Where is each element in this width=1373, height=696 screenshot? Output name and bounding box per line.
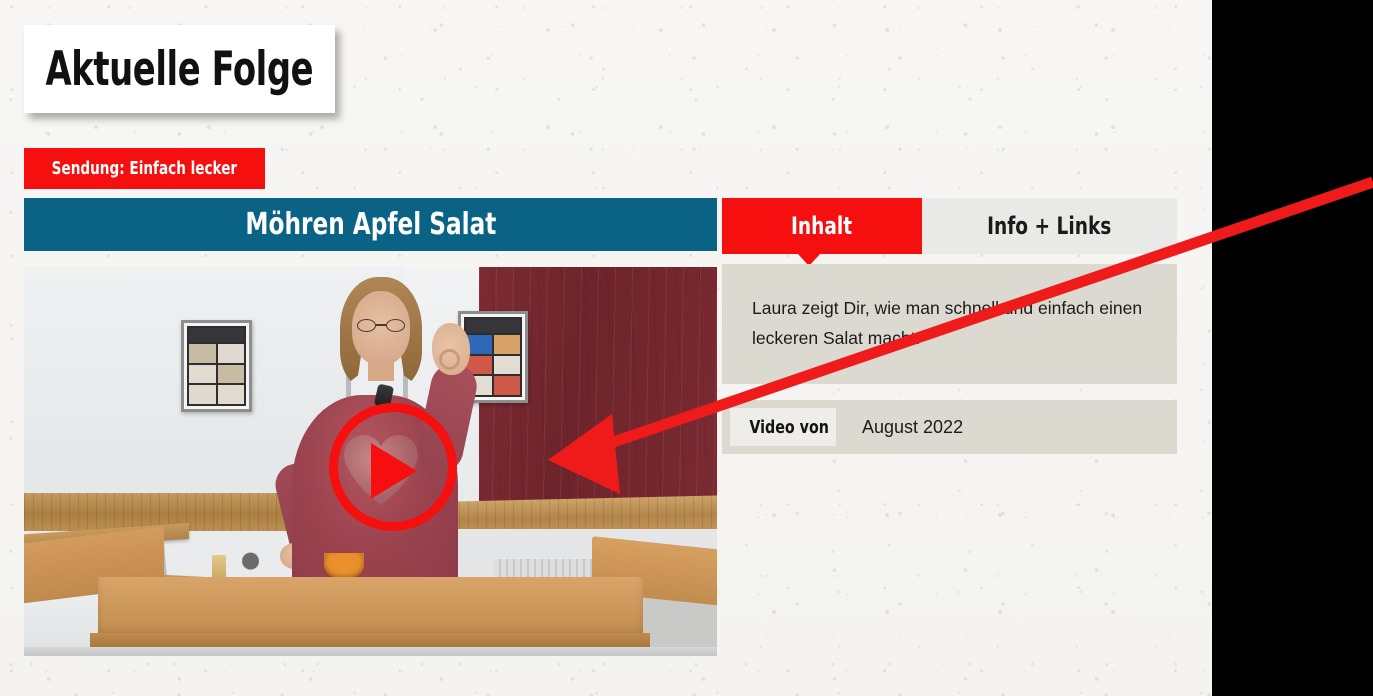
tab-info-links-label: Info + Links xyxy=(987,212,1111,240)
tab-content-panel: Laura zeigt Dir, wie man schnell und ein… xyxy=(722,264,1177,384)
scene-counter-surface xyxy=(98,577,643,639)
scene-person-neck xyxy=(368,359,394,381)
scene-poster-left-grid xyxy=(187,326,246,406)
poster-cell xyxy=(189,365,216,384)
show-badge-label: Sendung: Einfach lecker xyxy=(52,158,237,179)
scene-plant xyxy=(242,552,259,578)
poster-cell xyxy=(218,344,245,363)
glasses-icon xyxy=(357,319,405,332)
tab-info-links[interactable]: Info + Links xyxy=(922,198,1177,254)
video-date-label: Video von xyxy=(730,408,836,446)
episode-title-bar: Möhren Apfel Salat xyxy=(24,198,717,251)
poster-cell xyxy=(494,356,520,375)
page-title-card: Aktuelle Folge xyxy=(24,25,335,113)
show-badge: Sendung: Einfach lecker xyxy=(24,148,265,189)
poster-head xyxy=(466,319,520,333)
scene-person-hand-right xyxy=(432,323,470,375)
episode-title: Möhren Apfel Salat xyxy=(245,207,496,242)
poster-cell xyxy=(189,344,216,363)
screenshot-root: Aktuelle Folge Sendung: Einfach lecker M… xyxy=(0,0,1373,696)
scene-cabinets xyxy=(24,647,717,656)
poster-cell xyxy=(218,385,245,404)
tab-inhalt[interactable]: Inhalt xyxy=(722,198,922,254)
episode-description: Laura zeigt Dir, wie man schnell und ein… xyxy=(752,294,1147,354)
poster-cell xyxy=(494,335,520,354)
video-date-label-text: Video von xyxy=(749,417,828,438)
scene-jar xyxy=(212,555,226,579)
glasses-lens xyxy=(357,319,376,332)
scene-salad-bowl xyxy=(324,553,364,579)
video-date-value: August 2022 xyxy=(862,417,963,438)
poster-cell xyxy=(218,365,245,384)
glasses-bridge xyxy=(376,324,386,326)
poster-cell xyxy=(189,385,216,404)
video-player[interactable] xyxy=(24,267,717,656)
page-title: Aktuelle Folge xyxy=(46,46,314,93)
poster-head xyxy=(189,328,244,342)
tab-inhalt-label: Inhalt xyxy=(791,212,852,240)
poster-cell xyxy=(494,376,520,395)
scene-poster-left xyxy=(181,320,252,412)
glasses-lens xyxy=(386,319,405,332)
tab-bar: Inhalt Info + Links xyxy=(722,198,1177,254)
video-meta-row: Video von August 2022 xyxy=(722,400,1177,454)
